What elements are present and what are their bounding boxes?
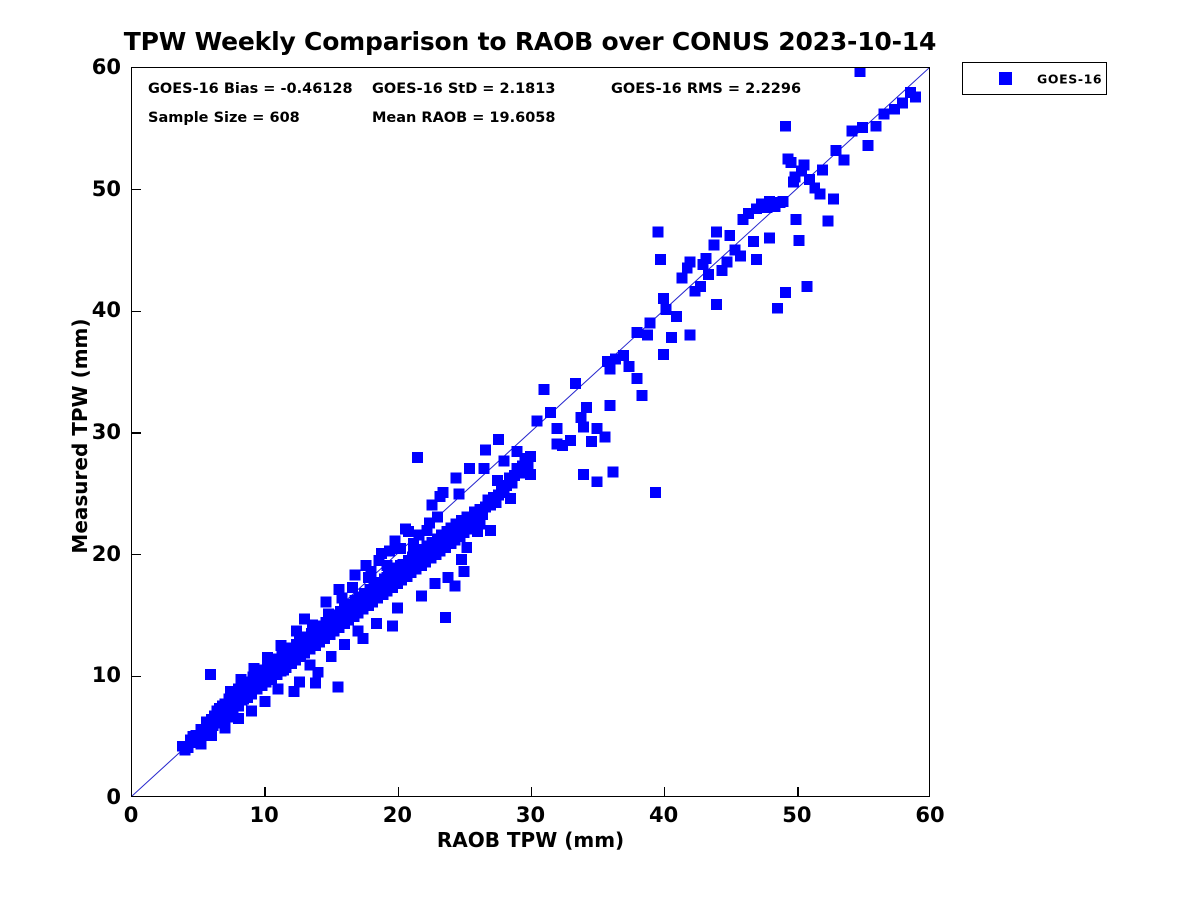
x-tick [264,787,266,796]
data-point [498,456,509,467]
data-point [581,402,592,413]
y-tick [132,432,141,434]
data-point [618,350,629,361]
data-point [661,304,672,315]
data-point [249,663,260,674]
data-point [339,639,350,650]
y-tick-label: 10 [92,663,121,687]
x-axis-title: RAOB TPW (mm) [131,828,930,852]
data-point [257,676,268,687]
data-point [854,68,865,77]
data-point [653,226,664,237]
data-point [586,436,597,447]
data-point [480,445,491,456]
data-point [233,713,244,724]
legend-label: GOES-16 [1037,71,1102,86]
data-point [323,609,334,620]
data-point [578,422,589,433]
data-point [671,311,682,322]
data-point [605,400,616,411]
data-point [799,160,810,171]
data-point [552,423,563,434]
data-point [392,602,403,613]
data-point [243,687,254,698]
data-point [570,378,581,389]
chart-title: TPW Weekly Comparison to RAOB over CONUS… [0,27,1060,56]
data-point [815,189,826,200]
data-point [437,487,448,498]
data-point [492,475,503,486]
data-point [650,487,661,498]
data-point [360,560,371,571]
data-point [283,655,294,666]
data-point [846,126,857,137]
data-point [658,293,669,304]
data-point [334,584,345,595]
data-point [708,240,719,251]
data-point [350,570,361,581]
data-point [429,578,440,589]
data-point [347,582,358,593]
data-point [368,584,379,595]
data-point [607,467,618,478]
data-point [512,446,523,457]
data-point [575,412,586,423]
data-point [780,121,791,132]
x-tick-label: 40 [649,803,678,827]
data-point [297,645,308,656]
data-point [387,621,398,632]
data-point [676,272,687,283]
scatter-series-goes-16 [177,68,921,755]
data-point [591,476,602,487]
x-tick [664,787,666,796]
y-tick-label: 30 [92,420,121,444]
data-point [751,254,762,265]
data-point [485,525,496,536]
y-tick-label: 60 [92,55,121,79]
data-point [443,572,454,583]
stat-bias: GOES-16 Bias = -0.46128 [148,81,353,97]
legend: GOES-16 [962,62,1107,95]
data-point [427,499,438,510]
data-point [182,742,193,753]
data-point [684,257,695,268]
data-point [578,469,589,480]
data-point [791,214,802,225]
x-tick-label: 0 [124,803,139,827]
data-point [735,251,746,262]
x-tick-label: 10 [250,803,279,827]
data-point [545,407,556,418]
data-point [390,536,401,547]
data-point [642,329,653,340]
data-point [475,519,486,530]
data-point [658,349,669,360]
data-point [862,140,873,151]
data-point [246,706,257,717]
data-point [631,373,642,384]
x-tick [531,787,533,796]
stat-mean-raob: Mean RAOB = 19.6058 [372,110,555,126]
data-point [358,633,369,644]
data-point [801,281,812,292]
data-point [416,590,427,601]
data-point [328,621,339,632]
data-point [408,538,419,549]
data-point [631,327,642,338]
data-point [219,723,230,734]
data-point [259,696,270,707]
data-point [395,560,406,571]
data-point [493,434,504,445]
data-point [273,684,284,695]
data-point [461,542,472,553]
data-point [780,287,791,298]
data-point [459,566,470,577]
data-point [355,596,366,607]
data-point [532,416,543,427]
y-tick [132,554,141,556]
stat-rms: GOES-16 RMS = 2.2296 [611,81,801,97]
data-point [897,98,908,109]
data-point [206,730,217,741]
data-point [828,194,839,205]
data-point [831,145,842,156]
data-point [315,633,326,644]
data-point [695,281,706,292]
data-point [294,676,305,687]
data-point [299,613,310,624]
data-point [605,363,616,374]
y-axis-title: Measured TPW (mm) [68,86,92,786]
data-point [382,560,393,571]
data-point [453,488,464,499]
data-point [772,303,783,314]
data-point [440,612,451,623]
x-tick-label: 60 [915,803,944,827]
data-point [196,738,207,749]
data-point [839,155,850,166]
x-tick-label: 30 [516,803,545,827]
data-point [505,493,516,504]
data-point [310,678,321,689]
data-point [817,164,828,175]
data-point [235,674,246,685]
y-tick-label: 0 [106,785,121,809]
data-point [201,717,212,728]
y-tick [132,676,141,678]
data-point [823,215,834,226]
data-point [684,329,695,340]
data-point [456,554,467,565]
data-point [451,473,462,484]
data-point [724,230,735,241]
plot-area [131,67,930,797]
data-point [376,548,387,559]
y-tick-label: 20 [92,542,121,566]
data-point [225,686,236,697]
x-tick-label: 20 [383,803,412,827]
data-point [464,463,475,474]
data-point [275,640,286,651]
data-point [538,384,549,395]
data-point [857,122,868,133]
data-point [525,451,536,462]
y-tick-label: 40 [92,298,121,322]
data-point [305,659,316,670]
stat-std: GOES-16 StD = 2.1813 [372,81,555,97]
data-point [655,254,666,265]
x-tick [398,787,400,796]
y-tick-label: 50 [92,177,121,201]
data-point [870,121,881,132]
data-point [793,235,804,246]
scatter-canvas [132,68,929,796]
y-tick [132,189,141,191]
data-point [711,226,722,237]
data-point [764,232,775,243]
data-point [262,652,273,663]
data-point [599,431,610,442]
data-point [711,299,722,310]
data-point [479,463,490,474]
data-point [217,709,228,720]
chart-page: TPW Weekly Comparison to RAOB over CONUS… [0,0,1200,900]
data-point [408,548,419,559]
data-point [623,361,634,372]
data-point [412,452,423,463]
data-point [342,606,353,617]
data-point [703,269,714,280]
data-point [878,109,889,120]
legend-marker-swatch [999,72,1012,85]
data-point [230,698,241,709]
data-point [332,681,343,692]
data-point [421,525,432,536]
data-point [400,524,411,535]
data-point [910,92,921,103]
data-point [700,253,711,264]
data-point [291,626,302,637]
data-point [289,686,300,697]
data-point [371,618,382,629]
data-point [525,469,536,480]
data-point [552,439,563,450]
data-point [565,435,576,446]
data-point [645,317,656,328]
data-point [382,572,393,583]
stat-sample-size: Sample Size = 608 [148,110,300,126]
x-tick-label: 50 [782,803,811,827]
data-point [785,157,796,168]
data-point [320,596,331,607]
x-tick [797,787,799,796]
data-point [637,390,648,401]
data-point [666,332,677,343]
data-point [270,664,281,675]
data-point [748,236,759,247]
y-tick [132,311,141,313]
legend-entry-goes16: GOES-16 [963,63,1106,94]
data-point [777,196,788,207]
data-point [722,257,733,268]
data-point [205,669,216,680]
data-point [326,651,337,662]
